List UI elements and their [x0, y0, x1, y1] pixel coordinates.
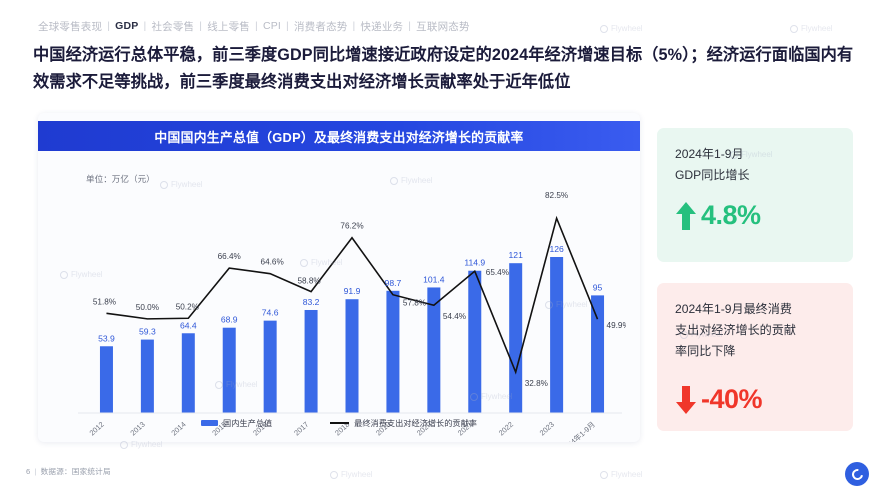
gdp-growth-value-row: 4.8% — [675, 200, 837, 231]
nav-item-1[interactable]: GDP — [115, 20, 138, 32]
chart-title-bar: 中国国内生产总值（GDP）及最终消费支出对经济增长的贡献率 — [38, 121, 640, 151]
pct-label-2022: 32.8% — [525, 379, 548, 388]
nav-item-5[interactable]: 消费者态势 — [294, 19, 348, 34]
nav-item-0[interactable]: 全球零售表现 — [38, 19, 102, 34]
bar-2014 — [182, 333, 195, 413]
bar-label-2019: 98.7 — [385, 278, 402, 288]
arrow-down-icon — [675, 385, 697, 415]
combo-chart-svg: 53.959.364.468.974.683.291.998.7101.4114… — [52, 165, 626, 442]
footer-separator: | — [34, 467, 36, 476]
bar-label-2020: 101.4 — [423, 274, 445, 284]
nav-item-6[interactable]: 快递业务 — [360, 19, 403, 34]
bar-label-2013: 59.3 — [139, 327, 156, 337]
pct-label-2017: 58.8% — [297, 277, 320, 286]
pct-label-2023: 82.5% — [545, 191, 568, 200]
pct-label-2013: 50.0% — [136, 303, 159, 312]
nav-item-2[interactable]: 社会零售 — [151, 19, 194, 34]
consumption-line3: 率同比下降 — [675, 341, 837, 362]
pct-label-2015: 66.4% — [218, 252, 241, 261]
arrow-up-icon — [675, 201, 697, 231]
brand-logo-icon — [845, 462, 869, 486]
top-navigation: 全球零售表现 | GDP | 社会零售 | 线上零售 | CPI | 消费者态势… — [0, 14, 889, 38]
bar-label-2015: 68.9 — [221, 315, 238, 325]
pct-label-2021: 65.4% — [486, 268, 509, 277]
gdp-growth-line1: 2024年1-9月 — [675, 144, 837, 165]
legend-bar-swatch-icon — [201, 420, 218, 426]
page-number: 6 — [26, 467, 30, 476]
gdp-growth-value: 4.8% — [701, 200, 761, 231]
consumption-value-row: -40% — [675, 384, 837, 415]
bar-label-2016: 74.6 — [262, 308, 279, 318]
page-headline: 中国经济运行总体平稳，前三季度GDP同比增速接近政府设定的2024年经济增速目标… — [33, 42, 857, 96]
bar-label-2024年1-9月: 95 — [593, 282, 603, 292]
bar-2015 — [223, 328, 236, 413]
pct-label-2016: 64.6% — [261, 258, 284, 267]
watermark: Flywheel — [330, 470, 373, 479]
bar-label-2017: 83.2 — [303, 297, 320, 307]
watermark: Flywheel — [600, 470, 643, 479]
consumption-contribution-panel: 2024年1-9月最终消费 支出对经济增长的贡献 率同比下降 -40% — [657, 283, 853, 431]
pct-label-2014: 50.2% — [176, 302, 199, 311]
nav-item-3[interactable]: 线上零售 — [207, 19, 250, 34]
bar-2019 — [386, 291, 399, 413]
bar-label-2018: 91.9 — [344, 286, 361, 296]
nav-separator: | — [199, 20, 202, 32]
nav-separator: | — [107, 20, 110, 32]
legend-item-bar[interactable]: 国内生产总值 — [201, 417, 272, 429]
bar-2018 — [346, 299, 359, 413]
gdp-growth-panel: 2024年1-9月 GDP同比增长 4.8% — [657, 128, 853, 262]
bar-2024年1-9月 — [591, 295, 604, 413]
bar-label-2022: 121 — [509, 250, 524, 260]
nav-separator: | — [286, 20, 289, 32]
bar-2021 — [468, 271, 481, 413]
nav-separator: | — [255, 20, 258, 32]
legend-item-line[interactable]: 最终消费支出对经济增长的贡献率 — [330, 417, 477, 429]
chart-legend: 国内生产总值 最终消费支出对经济增长的贡献率 — [38, 411, 640, 435]
bar-2022 — [509, 263, 522, 413]
gdp-growth-panel-text: 2024年1-9月 GDP同比增长 — [675, 144, 837, 186]
legend-line-swatch-icon — [330, 422, 349, 424]
legend-line-label: 最终消费支出对经济增长的贡献率 — [354, 417, 477, 429]
bar-2023 — [550, 257, 563, 413]
consumption-value: -40% — [701, 384, 762, 415]
bar-2016 — [264, 321, 277, 413]
chart-title: 中国国内生产总值（GDP）及最终消费支出对经济增长的贡献率 — [154, 127, 523, 146]
bar-2013 — [141, 340, 154, 413]
pct-label-2024年1-9月: 49.9% — [607, 321, 626, 330]
data-source: 数据源：国家统计局 — [41, 466, 111, 477]
bar-label-2014: 64.4 — [180, 320, 197, 330]
bar-2020 — [427, 287, 440, 413]
bar-series — [100, 257, 604, 413]
consumption-line2: 支出对经济增长的贡献 — [675, 320, 837, 341]
chart-card: 中国国内生产总值（GDP）及最终消费支出对经济增长的贡献率 单位：万亿（元） 5… — [38, 113, 640, 442]
bar-label-2012: 53.9 — [98, 333, 115, 343]
gdp-growth-line2: GDP同比增长 — [675, 165, 837, 186]
pct-label-2012: 51.8% — [93, 297, 116, 306]
bar-2012 — [100, 346, 113, 413]
nav-separator: | — [352, 20, 355, 32]
pct-label-2018: 76.2% — [340, 222, 363, 231]
bar-2017 — [305, 310, 318, 413]
consumption-panel-text: 2024年1-9月最终消费 支出对经济增长的贡献 率同比下降 — [675, 299, 837, 362]
nav-item-7[interactable]: 互联网态势 — [416, 19, 470, 34]
pct-label-2019: 57.8% — [403, 299, 426, 308]
legend-bar-label: 国内生产总值 — [223, 417, 272, 429]
nav-separator: | — [408, 20, 411, 32]
pct-label-2020: 54.4% — [443, 312, 466, 321]
bar-label-2021: 114.9 — [464, 258, 485, 268]
chart-plot-area: 53.959.364.468.974.683.291.998.7101.4114… — [52, 165, 626, 442]
consumption-line1: 2024年1-9月最终消费 — [675, 299, 837, 320]
nav-separator: | — [144, 20, 147, 32]
brand-logo-inner — [849, 466, 864, 481]
bar-label-2023: 126 — [549, 244, 564, 254]
nav-item-4[interactable]: CPI — [263, 20, 281, 32]
footer: 6 | 数据源：国家统计局 — [26, 466, 111, 477]
